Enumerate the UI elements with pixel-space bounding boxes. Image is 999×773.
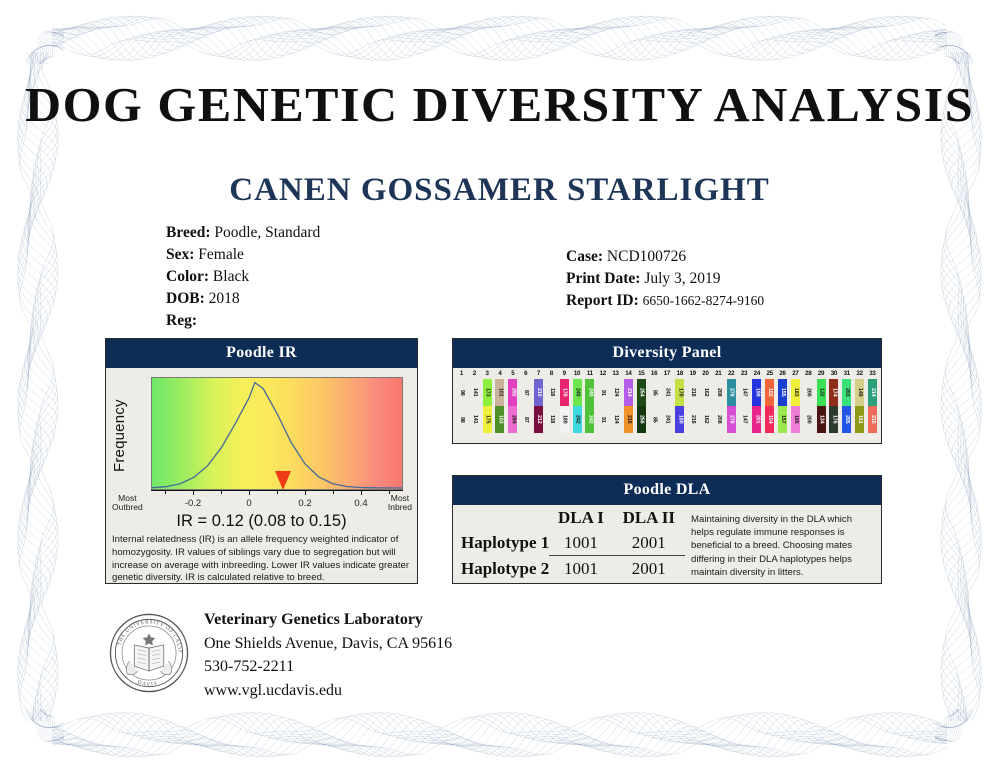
dla-panel-title: Poodle DLA [453, 476, 881, 505]
diversity-column: 168585 [648, 370, 661, 442]
diversity-allele-cell: 98 [457, 406, 466, 433]
diversity-column: 19898 [455, 370, 468, 442]
dla-header-row: DLA I DLA II [453, 505, 685, 530]
ir-right-edge-line2: Inbred [388, 503, 412, 512]
dog-name-title: CANEN GOSSAMER STARLIGHT [0, 172, 999, 209]
diversity-allele-cell: 147 [739, 379, 748, 406]
diversity-column: 2141141 [468, 370, 481, 442]
report-info-block: Case: NCD100726 Print Date: July 3, 2019… [566, 246, 764, 312]
diversity-column-number: 3 [486, 370, 489, 379]
ir-left-edge-line2: Outbred [112, 503, 143, 512]
print-date-label: Print Date: [566, 270, 640, 287]
diversity-column: 32149151 [853, 370, 866, 442]
dla-1-value: 1001 [549, 556, 612, 582]
ir-chart: Frequency -0.200.20.4 Most Outbred Most … [106, 368, 417, 572]
sex-value: Female [198, 246, 244, 263]
diversity-column-number: 10 [574, 370, 580, 379]
color-row: Color: Black [166, 266, 320, 288]
dla-panel: Poodle DLA DLA I DLA II Haplotype 110012… [452, 475, 882, 584]
diversity-allele-cell: 174 [829, 379, 838, 406]
diversity-allele-cell: 91 [598, 379, 607, 406]
dla-explanation-note: Maintaining diversity in the DLA which h… [685, 505, 881, 581]
sex-row: Sex: Female [166, 244, 320, 266]
diversity-allele-cell: 240 [585, 379, 594, 406]
certificate-page: DOG GENETIC DIVERSITY ANALYSIS CANEN GOS… [0, 0, 999, 773]
diversity-allele-cell: 162 [701, 379, 710, 406]
diversity-allele-cell: 91 [598, 406, 607, 433]
dla-1-value: 1001 [549, 530, 612, 556]
footer: THE UNIVERSITY OF CALIFORNIA DAVIS Veter… [108, 608, 452, 702]
diversity-column-number: 20 [702, 370, 708, 379]
diversity-allele-cell: 201 [752, 406, 761, 433]
breed-label: Breed: [166, 224, 210, 241]
ir-tick-minor [165, 490, 166, 494]
diversity-allele-cell: 103 [495, 406, 504, 433]
diversity-column-number: 18 [677, 370, 683, 379]
diversity-allele-cell: 155 [778, 379, 787, 406]
ir-tick-label: 0.2 [298, 498, 311, 509]
ir-tick-label: -0.2 [185, 498, 201, 509]
dla-2-value: 2001 [613, 530, 685, 556]
ir-tick [249, 490, 250, 495]
diversity-column-number: 4 [498, 370, 501, 379]
diversity-allele-cell: 118 [547, 406, 556, 433]
diversity-allele-cell: 214 [868, 379, 877, 406]
report-id-value: 6650-1662-8274-9160 [643, 293, 765, 308]
dob-row: DOB: 2018 [166, 288, 320, 310]
dla-table-row: Haplotype 210012001 [453, 556, 685, 582]
diversity-allele-cell: 157 [778, 406, 787, 433]
diversity-allele-cell: 141 [470, 406, 479, 433]
diversity-column-number: 24 [754, 370, 760, 379]
breed-value: Poodle, Standard [214, 224, 320, 241]
diversity-column: 18178180 [673, 370, 686, 442]
sex-label: Sex: [166, 246, 194, 263]
diversity-allele-cell: 124 [611, 379, 620, 406]
diversity-allele-cell: 87 [521, 406, 530, 433]
diversity-column: 29132134 [815, 370, 828, 442]
diversity-column: 3173175 [481, 370, 494, 442]
diversity-allele-cell: 216 [688, 379, 697, 406]
diversity-column-number: 6 [524, 370, 527, 379]
diversity-column-number: 12 [600, 370, 606, 379]
diversity-column-number: 30 [831, 370, 837, 379]
diversity-allele-cell: 200 [804, 379, 813, 406]
diversity-allele-cell: 180 [560, 406, 569, 433]
diversity-allele-cell: 173 [483, 379, 492, 406]
ir-tick [305, 490, 306, 495]
dla-2-value: 2001 [613, 556, 685, 582]
diversity-allele-cell: 241 [662, 379, 671, 406]
dob-label: DOB: [166, 290, 205, 307]
dla-col-blank [453, 505, 549, 530]
reg-label: Reg: [166, 312, 197, 329]
case-label: Case: [566, 248, 603, 265]
diversity-column-number: 2 [473, 370, 476, 379]
diversity-allele-cell: 254 [637, 379, 646, 406]
diversity-column-number: 1 [460, 370, 463, 379]
diversity-allele-cell: 132 [817, 379, 826, 406]
ir-explanation-note: Internal relatedness (IR) is an allele f… [112, 534, 412, 585]
print-date-value: July 3, 2019 [644, 270, 720, 287]
diversity-column-number: 17 [664, 370, 670, 379]
diversity-column: 20162162 [699, 370, 712, 442]
diversity-column: 13124124 [609, 370, 622, 442]
diversity-column: 21208208 [712, 370, 725, 442]
animal-info-block: Breed: Poodle, Standard Sex: Female Colo… [166, 222, 320, 332]
diversity-column: 10240242 [571, 370, 584, 442]
diversity-allele-cell: 212 [534, 406, 543, 433]
diversity-column-number: 19 [689, 370, 695, 379]
diversity-allele-cell: 294 [508, 406, 517, 433]
diversity-column-number: 29 [818, 370, 824, 379]
ir-panel-title: Poodle IR [106, 339, 417, 368]
diversity-column: 17241241 [661, 370, 674, 442]
dla-col-2-header: DLA II [613, 505, 685, 530]
diversity-column-number: 8 [550, 370, 553, 379]
dla-table: DLA I DLA II Haplotype 110012001Haplotyp… [453, 505, 685, 581]
diversity-allele-cell: 147 [739, 406, 748, 433]
report-id-row: Report ID: 6650-1662-8274-9160 [566, 290, 764, 312]
diversity-column: 4101103 [494, 370, 507, 442]
diversity-column: 8118118 [545, 370, 558, 442]
diversity-column: 24199201 [750, 370, 763, 442]
diversity-allele-cell: 98 [457, 379, 466, 406]
dla-row-label: Haplotype 1 [453, 530, 549, 556]
diversity-column: 30174176 [827, 370, 840, 442]
diversity-column: 31203205 [840, 370, 853, 442]
page-title: DOG GENETIC DIVERSITY ANALYSIS [0, 76, 999, 133]
diversity-column: 25102104 [763, 370, 776, 442]
diversity-column: 28200200 [802, 370, 815, 442]
diversity-allele-cell: 151 [855, 406, 864, 433]
diversity-allele-cell: 178 [560, 379, 569, 406]
diversity-panel-title: Diversity Panel [453, 339, 881, 368]
lab-phone: 530-752-2211 [204, 655, 452, 679]
dla-col-1-header: DLA I [549, 505, 612, 530]
diversity-column-number: 26 [779, 370, 785, 379]
diversity-allele-cell: 241 [662, 406, 671, 433]
diversity-allele-cell: 101 [495, 379, 504, 406]
diversity-column-number: 21 [715, 370, 721, 379]
ir-right-edge-label: Most Inbred [388, 494, 412, 512]
diversity-allele-cell: 205 [842, 406, 851, 433]
diversity-allele-cell: 242 [585, 406, 594, 433]
diversity-column-number: 7 [537, 370, 540, 379]
diversity-column: 129191 [596, 370, 609, 442]
case-value: NCD100726 [607, 248, 686, 265]
report-id-label: Report ID: [566, 292, 639, 309]
diversity-column-number: 28 [805, 370, 811, 379]
diversity-allele-cell: 292 [508, 379, 517, 406]
diversity-allele-cell: 240 [573, 379, 582, 406]
diversity-allele-cell: 276 [727, 379, 736, 406]
diversity-column: 11240242 [583, 370, 596, 442]
diversity-allele-cell: 176 [829, 406, 838, 433]
diversity-allele-cell: 216 [688, 406, 697, 433]
diversity-allele-cell: 199 [752, 379, 761, 406]
diversity-allele-cell: 149 [855, 379, 864, 406]
diversity-column-number: 33 [869, 370, 875, 379]
diversity-allele-cell: 141 [470, 379, 479, 406]
diversity-allele-cell: 180 [675, 406, 684, 433]
svg-text:DAVIS: DAVIS [136, 680, 158, 688]
diversity-column-number: 5 [511, 370, 514, 379]
diversity-allele-cell: 124 [611, 406, 620, 433]
diversity-panel-body: 1989821411413173175410110352922946878772… [453, 368, 881, 442]
diversity-column-number: 11 [587, 370, 593, 379]
diversity-column: 27183185 [789, 370, 802, 442]
diversity-column: 5292294 [506, 370, 519, 442]
diversity-allele-cell: 256 [637, 406, 646, 433]
ir-value-marker [275, 471, 291, 490]
diversity-allele-cell: 210 [534, 379, 543, 406]
ir-value-text: IR = 0.12 (0.08 to 0.15) [106, 512, 417, 531]
case-row: Case: NCD100726 [566, 246, 764, 268]
diversity-column: 68787 [519, 370, 532, 442]
ir-tick-minor [333, 490, 334, 494]
ir-tick-label: 0 [246, 498, 251, 509]
diversity-allele-cell: 278 [727, 406, 736, 433]
diversity-allele-cell: 134 [817, 406, 826, 433]
diversity-allele-cell: 214 [624, 379, 633, 406]
diversity-allele-cell: 183 [791, 379, 800, 406]
diversity-allele-cell: 178 [675, 379, 684, 406]
diversity-allele-cell: 185 [791, 406, 800, 433]
diversity-column-number: 31 [844, 370, 850, 379]
diversity-marker-columns: 1989821411413173175410110352922946878772… [453, 370, 881, 442]
breed-row: Breed: Poodle, Standard [166, 222, 320, 244]
diversity-column-number: 22 [728, 370, 734, 379]
diversity-column-number: 13 [612, 370, 618, 379]
uc-davis-seal-icon: THE UNIVERSITY OF CALIFORNIA DAVIS [108, 612, 190, 694]
diversity-allele-cell: 208 [714, 379, 723, 406]
ir-tick-label: 0.4 [354, 498, 367, 509]
print-date-row: Print Date: July 3, 2019 [566, 268, 764, 290]
diversity-allele-cell: 216 [624, 406, 633, 433]
color-label: Color: [166, 268, 209, 285]
dla-table-row: Haplotype 110012001 [453, 530, 685, 556]
diversity-panel: Diversity Panel 198982141141317317541011… [452, 338, 882, 444]
diversity-column-number: 14 [625, 370, 631, 379]
diversity-column: 22276278 [725, 370, 738, 442]
diversity-allele-cell: 85 [650, 406, 659, 433]
diversity-column: 26155157 [776, 370, 789, 442]
diversity-column-number: 16 [651, 370, 657, 379]
dla-panel-body: DLA I DLA II Haplotype 110012001Haplotyp… [453, 505, 881, 581]
diversity-column: 9178180 [558, 370, 571, 442]
diversity-allele-cell: 104 [765, 406, 774, 433]
dob-value: 2018 [209, 290, 240, 307]
diversity-allele-cell: 85 [650, 379, 659, 406]
lab-address: One Shields Avenue, Davis, CA 95616 [204, 632, 452, 656]
diversity-column-number: 23 [741, 370, 747, 379]
ir-tick-minor [221, 490, 222, 494]
diversity-column: 19216216 [686, 370, 699, 442]
diversity-allele-cell: 200 [804, 406, 813, 433]
ir-tick [361, 490, 362, 495]
diversity-allele-cell: 175 [483, 406, 492, 433]
diversity-allele-cell: 118 [547, 379, 556, 406]
diversity-column-number: 25 [767, 370, 773, 379]
lab-org-name: Veterinary Genetics Laboratory [204, 608, 452, 632]
diversity-column: 33214216 [866, 370, 879, 442]
dla-row-label: Haplotype 2 [453, 556, 549, 582]
diversity-column-number: 9 [563, 370, 566, 379]
diversity-column-number: 32 [856, 370, 862, 379]
reg-row: Reg: [166, 310, 320, 332]
diversity-column: 23147147 [738, 370, 751, 442]
diversity-allele-cell: 162 [701, 406, 710, 433]
diversity-allele-cell: 87 [521, 379, 530, 406]
ir-y-axis-label: Frequency [111, 386, 129, 486]
lab-address-block: Veterinary Genetics Laboratory One Shiel… [204, 608, 452, 702]
lab-website[interactable]: www.vgl.ucdavis.edu [204, 679, 452, 703]
ir-panel: Poodle IR Frequency -0.200.20.4 Most Out… [105, 338, 418, 584]
diversity-column: 15254256 [635, 370, 648, 442]
diversity-allele-cell: 242 [573, 406, 582, 433]
diversity-column-number: 15 [638, 370, 644, 379]
diversity-allele-cell: 102 [765, 379, 774, 406]
ir-tick-minor [277, 490, 278, 494]
diversity-column-number: 27 [792, 370, 798, 379]
diversity-allele-cell: 208 [714, 406, 723, 433]
diversity-column: 14214216 [622, 370, 635, 442]
diversity-allele-cell: 216 [868, 406, 877, 433]
diversity-allele-cell: 203 [842, 379, 851, 406]
ir-left-edge-label: Most Outbred [112, 494, 143, 512]
diversity-column: 7210212 [532, 370, 545, 442]
color-value: Black [213, 268, 249, 285]
ir-tick [193, 490, 194, 495]
